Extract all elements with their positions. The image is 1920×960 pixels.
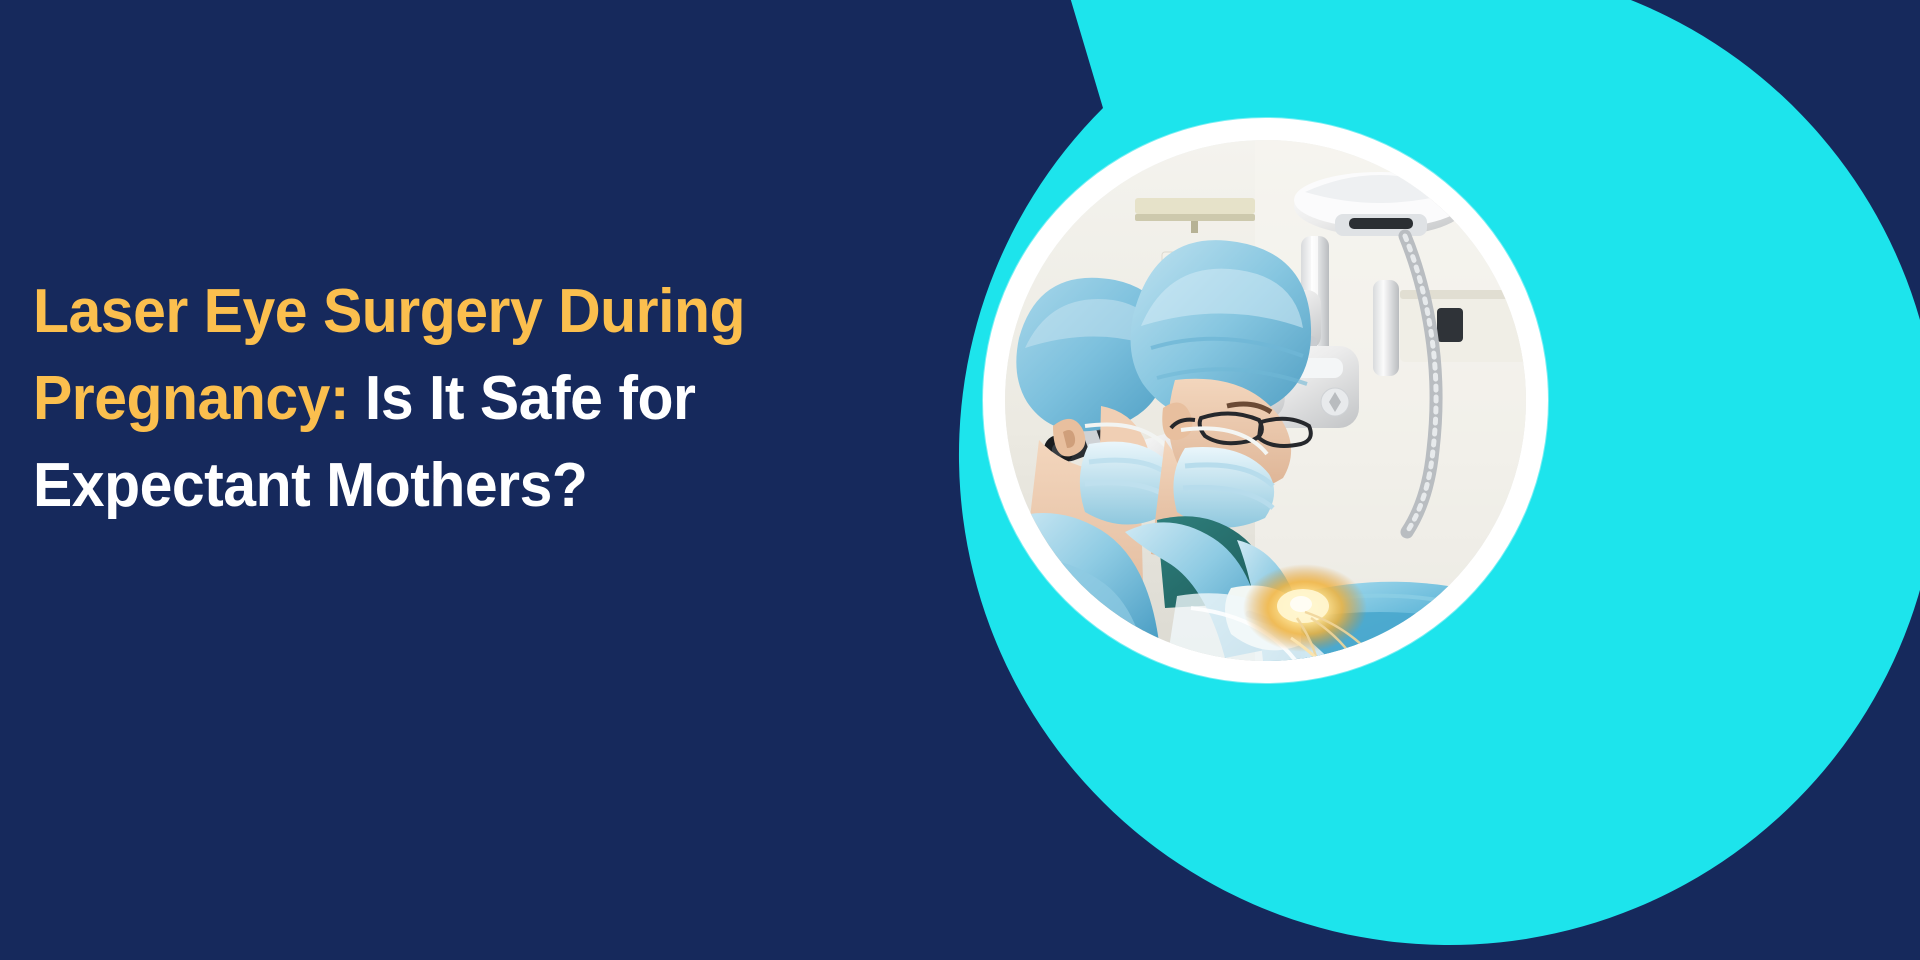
headline-line-2-white: Is It Safe for (365, 364, 695, 433)
page-title: Laser Eye Surgery During Pregnancy: Is I… (33, 268, 913, 529)
headline-line-1-yellow: Laser Eye Surgery During (33, 277, 745, 346)
headline-line-3-white: Expectant Mothers? (33, 451, 587, 520)
headline-line-2-yellow: Pregnancy: (33, 364, 349, 433)
headline-line-2: Pregnancy: Is It Safe for (33, 355, 869, 442)
headline-line-3: Expectant Mothers? (33, 442, 869, 529)
surgery-photo (1005, 140, 1526, 661)
headline-line-1: Laser Eye Surgery During (33, 268, 869, 355)
